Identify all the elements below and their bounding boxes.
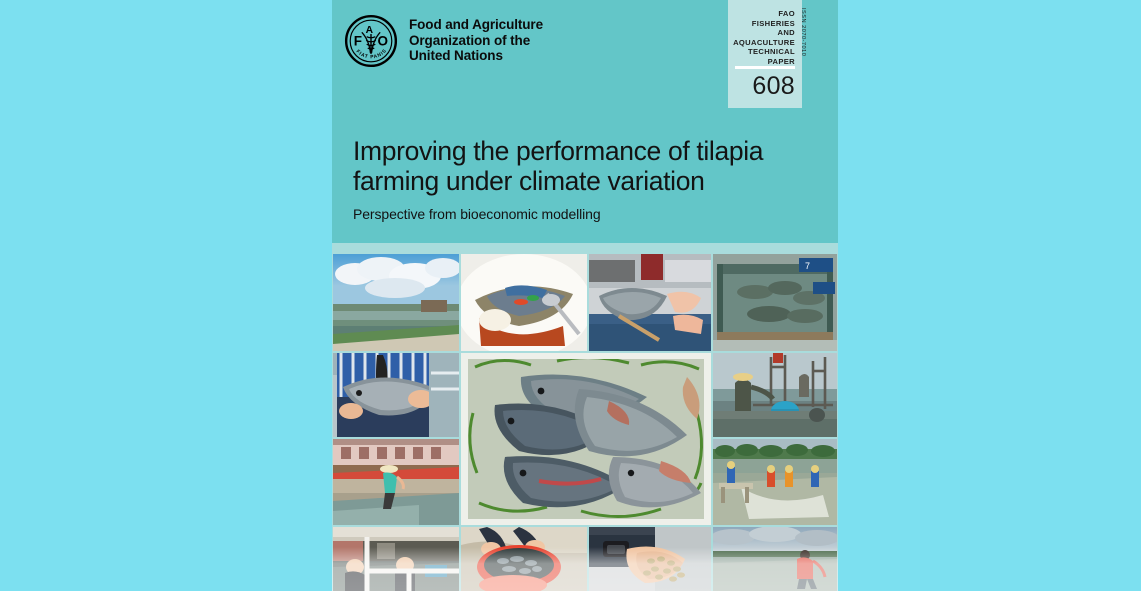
photo-feed-pellets xyxy=(589,527,711,591)
photo-pond-landscape xyxy=(333,254,459,351)
svg-text:O: O xyxy=(377,33,388,48)
photo-cooked-tilapia xyxy=(461,254,587,351)
series-number: 608 xyxy=(752,72,795,101)
cover-photo-mosaic: 7 xyxy=(332,243,838,591)
svg-text:7: 7 xyxy=(805,261,810,271)
fao-emblem-icon: F A O FIAT PANIS xyxy=(344,14,398,68)
photo-hatchery-shed xyxy=(333,527,459,591)
cover-subtitle: Perspective from bioeconomic modelling xyxy=(353,206,823,223)
photo-fingerlings-basin xyxy=(461,527,587,591)
series-line-3: AQUACULTURE xyxy=(733,38,795,48)
series-line-4: TECHNICAL xyxy=(733,47,795,57)
photo-live-fish-tank: 7 xyxy=(713,254,837,351)
fao-wordmark: Food and Agriculture Organization of the… xyxy=(409,17,543,64)
svg-text:A: A xyxy=(366,25,374,36)
photo-hands-holding-fish xyxy=(589,254,711,351)
fao-wordmark-line-1: Food and Agriculture xyxy=(409,17,543,33)
svg-text:F: F xyxy=(354,33,362,48)
series-line-1: FAO xyxy=(733,9,795,19)
series-label-box: FAO FISHERIES AND AQUACULTURE TECHNICAL … xyxy=(728,0,802,108)
photo-concrete-raceways xyxy=(333,439,459,525)
photo-pond-wading xyxy=(713,527,837,591)
publication-cover: F A O FIAT PANIS xyxy=(332,0,838,591)
series-line-2: FISHERIES AND xyxy=(733,19,795,38)
issn-text: ISSN 2070-7010 xyxy=(800,8,806,78)
photo-farmer-with-fish xyxy=(333,353,459,437)
title-block: Improving the performance of tilapia far… xyxy=(353,137,823,223)
series-label-text: FAO FISHERIES AND AQUACULTURE TECHNICAL … xyxy=(733,9,795,67)
fao-wordmark-line-2: Organization of the xyxy=(409,33,543,49)
cover-title-line-1: Improving the performance of tilapia xyxy=(353,136,763,166)
series-divider xyxy=(735,66,795,69)
fao-branding: F A O FIAT PANIS xyxy=(344,14,543,68)
screenshot-viewport: F A O FIAT PANIS xyxy=(0,0,1141,591)
photo-seine-netting xyxy=(713,439,837,525)
fao-wordmark-line-3: United Nations xyxy=(409,48,543,64)
photo-pond-rig xyxy=(713,353,837,437)
cover-header-band: F A O FIAT PANIS xyxy=(332,0,838,243)
photo-tilapia-harvest xyxy=(461,353,711,525)
cover-title: Improving the performance of tilapia far… xyxy=(353,137,823,196)
cover-title-line-2: farming under climate variation xyxy=(353,166,704,196)
